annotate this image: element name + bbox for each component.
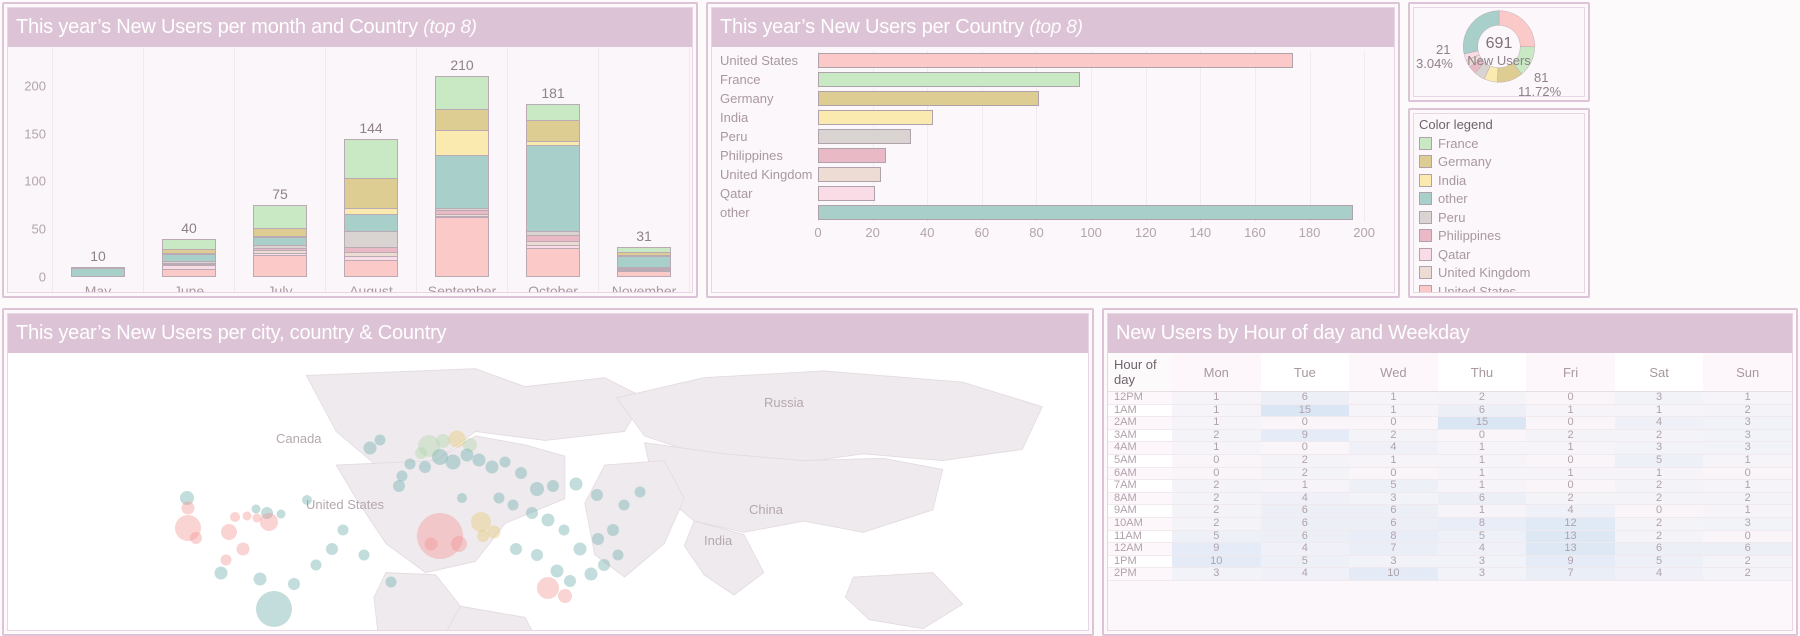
table-cell[interactable]: 15 <box>1261 404 1350 417</box>
hbar[interactable] <box>818 205 1353 220</box>
map-bubble[interactable] <box>591 489 603 501</box>
table-cell[interactable]: 2 <box>1615 492 1704 505</box>
hbar-row[interactable]: other <box>718 203 1386 222</box>
table-cell[interactable]: 3 <box>1703 517 1792 530</box>
map-bubble[interactable] <box>585 568 598 581</box>
hbar-track <box>818 146 1386 165</box>
table-cell[interactable]: 9 <box>1526 555 1615 568</box>
table-cell[interactable]: 13 <box>1526 530 1615 543</box>
table-row[interactable]: 12AM94741366 <box>1108 543 1792 556</box>
table-row[interactable]: 11AM56851320 <box>1108 530 1792 543</box>
legend-label: United States <box>1438 284 1516 293</box>
map-bubble[interactable] <box>472 454 485 467</box>
legend-item[interactable]: Philippines <box>1414 227 1584 246</box>
map-bubble[interactable] <box>337 524 348 535</box>
table-row[interactable]: 6AM0201110 <box>1108 467 1792 480</box>
legend-item[interactable]: other <box>1414 190 1584 209</box>
table-column-header[interactable]: Thu <box>1438 353 1527 392</box>
table-cell[interactable]: 12 <box>1526 517 1615 530</box>
map-bubble[interactable] <box>214 566 227 579</box>
hour-weekday-table[interactable]: Hour of dayMonTueWedThuFriSatSun 12PM161… <box>1108 353 1792 581</box>
hbar-category-label: Peru <box>718 129 818 144</box>
bar-segment[interactable] <box>435 130 489 155</box>
table-cell[interactable]: 3 <box>1438 568 1527 581</box>
table-cell[interactable]: 1 <box>1172 417 1261 430</box>
map-bubble[interactable] <box>550 565 563 578</box>
table-cell[interactable]: 5 <box>1349 480 1438 493</box>
table-cell[interactable]: 3 <box>1438 555 1527 568</box>
bar-segment[interactable] <box>435 217 489 277</box>
x-axis-tick: 60 <box>975 225 989 240</box>
table-cell[interactable]: 2 <box>1615 530 1704 543</box>
hbar-category-label: Qatar <box>718 186 818 201</box>
map-bubble[interactable] <box>574 542 587 555</box>
panel-inner: Color legend FranceGermanyIndiaotherPeru… <box>1413 113 1585 293</box>
table-cell[interactable]: 8 <box>1349 530 1438 543</box>
table-cell[interactable]: 4 <box>1526 505 1615 518</box>
table-cell[interactable]: 0 <box>1526 417 1615 430</box>
table-row[interactable]: 5AM0211051 <box>1108 454 1792 467</box>
bars-panel-title: This year’s New Users per month and Coun… <box>8 8 692 47</box>
table-cell[interactable]: 6 <box>1261 530 1350 543</box>
stacked-bar[interactable] <box>253 205 307 277</box>
table-cell[interactable]: 2 <box>1172 505 1261 518</box>
stacked-bar[interactable] <box>344 139 398 277</box>
table-row-header: 6AM <box>1108 467 1172 480</box>
table-cell[interactable]: 2 <box>1703 404 1792 417</box>
hbar-row[interactable]: Qatar <box>718 184 1386 203</box>
map-bubble[interactable] <box>237 542 250 555</box>
table-cell[interactable]: 0 <box>1526 454 1615 467</box>
table-row[interactable]: 2AM10015043 <box>1108 417 1792 430</box>
table-cell[interactable]: 6 <box>1349 517 1438 530</box>
map-bubble[interactable] <box>374 434 385 445</box>
table-cell[interactable]: 10 <box>1349 568 1438 581</box>
table-cell[interactable]: 8 <box>1438 517 1527 530</box>
map-bubble[interactable] <box>499 457 510 468</box>
table-cell[interactable]: 1 <box>1703 454 1792 467</box>
hbar[interactable] <box>818 148 886 163</box>
map-bubble[interactable] <box>570 478 583 491</box>
table-cell[interactable]: 1 <box>1261 480 1350 493</box>
table-cell[interactable]: 1 <box>1172 392 1261 405</box>
table-cell[interactable]: 0 <box>1261 417 1350 430</box>
table-column-header[interactable]: Sat <box>1615 353 1704 392</box>
panel-new-users-per-country: This year’s New Users per Country (top 8… <box>706 2 1400 298</box>
gridline <box>1091 108 1092 127</box>
table-cell[interactable]: 2 <box>1172 492 1261 505</box>
map-bubble[interactable] <box>515 467 527 479</box>
bar-segment[interactable] <box>344 260 398 277</box>
table-row[interactable]: 12PM1612031 <box>1108 392 1792 405</box>
table-row[interactable]: 2PM34103742 <box>1108 568 1792 581</box>
table-cell[interactable]: 3 <box>1172 568 1261 581</box>
gridline <box>1200 108 1201 127</box>
bar-segment[interactable] <box>617 256 671 267</box>
map-bubble[interactable] <box>531 549 543 561</box>
table-row[interactable]: 8AM2436222 <box>1108 492 1792 505</box>
table-row[interactable]: 1PM10533952 <box>1108 555 1792 568</box>
gridline <box>1364 70 1365 89</box>
table-cell[interactable]: 2 <box>1261 467 1350 480</box>
hbar-row[interactable]: United States <box>718 51 1386 70</box>
table-column-header[interactable]: Fri <box>1526 353 1615 392</box>
map-bubble[interactable] <box>310 559 321 570</box>
hbar[interactable] <box>818 167 881 182</box>
map-bubble[interactable] <box>488 525 501 538</box>
gridline <box>927 146 928 165</box>
table-cell[interactable]: 5 <box>1438 530 1527 543</box>
table-cell[interactable]: 5 <box>1261 555 1350 568</box>
bar-segment[interactable] <box>162 239 216 250</box>
table-cell[interactable]: 6 <box>1349 505 1438 518</box>
gridline <box>1310 108 1311 127</box>
hbar-category-label: France <box>718 72 818 87</box>
bar-segment[interactable] <box>344 214 398 231</box>
table-cell[interactable]: 1 <box>1703 480 1792 493</box>
x-axis-tick: September <box>417 283 507 293</box>
table-cell[interactable]: 2 <box>1526 429 1615 442</box>
map-bubble[interactable] <box>457 493 467 503</box>
hbar-row[interactable]: Peru <box>718 127 1386 146</box>
gridline <box>1091 184 1092 203</box>
map-bubble[interactable] <box>559 524 570 535</box>
table-row-header: 3AM <box>1108 429 1172 442</box>
legend-label: Philippines <box>1438 228 1501 243</box>
hbar-row[interactable]: United Kingdom <box>718 165 1386 184</box>
bar-segment[interactable] <box>253 228 307 236</box>
bar-segment[interactable] <box>617 271 671 277</box>
map-bubble[interactable] <box>404 458 415 469</box>
table-cell[interactable]: 2 <box>1615 517 1704 530</box>
hbar[interactable] <box>818 72 1080 87</box>
table-corner-header: Hour of day <box>1108 353 1172 392</box>
gridline <box>1146 127 1147 146</box>
map-bubble[interactable] <box>510 543 522 555</box>
table-cell[interactable]: 1 <box>1349 454 1438 467</box>
table-cell[interactable]: 1 <box>1526 467 1615 480</box>
table-cell[interactable]: 0 <box>1438 429 1527 442</box>
table-cell[interactable]: 1 <box>1526 442 1615 455</box>
table-cell[interactable]: 3 <box>1615 442 1704 455</box>
stacked-bar[interactable] <box>162 239 216 277</box>
bar-segment[interactable] <box>344 178 398 208</box>
table-cell[interactable]: 4 <box>1615 568 1704 581</box>
table-cell[interactable]: 4 <box>1438 543 1527 556</box>
map-bubble[interactable] <box>526 507 538 519</box>
map-bubble[interactable] <box>326 543 338 555</box>
table-cell[interactable]: 0 <box>1703 530 1792 543</box>
table-cell[interactable]: 3 <box>1703 417 1792 430</box>
map-bubble[interactable] <box>530 482 544 496</box>
stacked-bar[interactable] <box>617 247 671 277</box>
table-cell[interactable]: 6 <box>1438 492 1527 505</box>
table-cell[interactable]: 2 <box>1615 480 1704 493</box>
table-cell[interactable]: 5 <box>1615 454 1704 467</box>
legend-item[interactable]: Peru <box>1414 208 1584 227</box>
table-cell[interactable]: 7 <box>1349 543 1438 556</box>
map-bubble[interactable] <box>260 513 278 531</box>
table-cell[interactable]: 2 <box>1172 480 1261 493</box>
stacked-bar-chart[interactable]: 050100150200 10May40June75July144August2… <box>8 47 692 293</box>
table-row[interactable]: 1AM11516112 <box>1108 404 1792 417</box>
table-row[interactable]: 7AM2151021 <box>1108 480 1792 493</box>
table-cell[interactable]: 6 <box>1261 392 1350 405</box>
table-cell[interactable]: 10 <box>1172 555 1261 568</box>
bar-segment[interactable] <box>162 269 216 277</box>
map-canvas[interactable]: CanadaUnited StatesRussiaChinaIndia <box>8 353 1088 631</box>
table-cell[interactable]: 1 <box>1438 467 1527 480</box>
map-bubble[interactable] <box>445 455 460 470</box>
bar-total-label: 181 <box>541 85 564 101</box>
map-bubble[interactable] <box>256 591 292 627</box>
map-bubble[interactable] <box>451 536 467 552</box>
bar-column[interactable]: 144August <box>326 47 417 293</box>
table-cell[interactable]: 1 <box>1703 392 1792 405</box>
table-column-header[interactable]: Mon <box>1172 353 1261 392</box>
table-cell[interactable]: 4 <box>1261 543 1350 556</box>
table-cell[interactable]: 6 <box>1703 543 1792 556</box>
table-cell[interactable]: 3 <box>1703 429 1792 442</box>
table-cell[interactable]: 15 <box>1438 417 1527 430</box>
horizontal-bar-chart[interactable]: United StatesFranceGermanyIndiaPeruPhili… <box>712 47 1394 244</box>
bar-segment[interactable] <box>344 231 398 247</box>
map-bubble[interactable] <box>547 480 559 492</box>
table-cell[interactable]: 4 <box>1261 568 1350 581</box>
table-row[interactable]: 10AM26681223 <box>1108 517 1792 530</box>
map-bubble[interactable] <box>485 460 498 473</box>
stacked-bar[interactable] <box>435 76 489 277</box>
bar-segment[interactable] <box>71 268 125 277</box>
gridline <box>1364 165 1365 184</box>
bar-column[interactable]: 10May <box>52 47 144 293</box>
table-cell[interactable]: 1 <box>1703 505 1792 518</box>
table-cell[interactable]: 5 <box>1615 555 1704 568</box>
table-cell[interactable]: 1 <box>1438 480 1527 493</box>
table-cell[interactable]: 9 <box>1172 543 1261 556</box>
bar-column[interactable]: 210September <box>417 47 508 293</box>
x-axis-tick: July <box>235 283 325 293</box>
legend-item-list: FranceGermanyIndiaotherPeruPhilippinesQa… <box>1414 134 1584 293</box>
table-cell[interactable]: 0 <box>1172 454 1261 467</box>
table-cell[interactable]: 2 <box>1438 392 1527 405</box>
hbar-row[interactable]: Germany <box>718 89 1386 108</box>
table-cell[interactable]: 4 <box>1261 492 1350 505</box>
map-bubble[interactable] <box>359 550 370 561</box>
x-axis: 020406080100120140160180200 <box>818 222 1386 244</box>
map-country-label: China <box>749 502 783 517</box>
legend-item[interactable]: United States <box>1414 282 1584 293</box>
table-row[interactable]: 9AM2661401 <box>1108 505 1792 518</box>
map-bubble[interactable] <box>494 493 505 504</box>
table-cell[interactable]: 9 <box>1261 429 1350 442</box>
hbar-row[interactable]: Philippines <box>718 146 1386 165</box>
map-bubble[interactable] <box>419 461 431 473</box>
legend-item[interactable]: Qatar <box>1414 245 1584 264</box>
table-cell[interactable]: 3 <box>1703 442 1792 455</box>
gridline <box>1310 89 1311 108</box>
bar-segment[interactable] <box>344 139 398 178</box>
table-cell[interactable]: 1 <box>1438 442 1527 455</box>
table-cell[interactable]: 6 <box>1615 543 1704 556</box>
table-cell[interactable]: 1 <box>1349 404 1438 417</box>
table-cell[interactable]: 1 <box>1438 505 1527 518</box>
table-cell[interactable]: 4 <box>1615 417 1704 430</box>
gridline <box>1036 184 1037 203</box>
map-bubble[interactable] <box>542 514 555 527</box>
hbar-category-label: United States <box>718 53 818 68</box>
map-bubble[interactable] <box>182 501 195 514</box>
table-cell[interactable]: 1 <box>1172 442 1261 455</box>
map-bubble[interactable] <box>288 578 300 590</box>
map-bubble[interactable] <box>221 524 237 540</box>
map-bubble[interactable] <box>363 441 376 454</box>
table-cell[interactable]: 3 <box>1349 492 1438 505</box>
map-bubble[interactable] <box>613 550 624 561</box>
map-bubble[interactable] <box>393 480 405 492</box>
legend-item[interactable]: France <box>1414 134 1584 153</box>
bar-column[interactable]: 181October <box>508 47 599 293</box>
hbar[interactable] <box>818 110 933 125</box>
bar-segment[interactable] <box>526 120 580 141</box>
map-bubble[interactable] <box>607 524 619 536</box>
bar-segment[interactable] <box>253 237 307 245</box>
map-bubble[interactable] <box>598 559 610 571</box>
map-bubble[interactable] <box>618 499 629 510</box>
map-bubble[interactable] <box>190 532 202 544</box>
table-cell[interactable]: 2 <box>1526 492 1615 505</box>
bar-segment[interactable] <box>253 205 307 228</box>
bar-segment[interactable] <box>526 145 580 231</box>
map-bubble[interactable] <box>537 577 559 599</box>
legend-label: Peru <box>1438 210 1465 225</box>
table-column-header[interactable]: Tue <box>1261 353 1350 392</box>
table-cell[interactable]: 3 <box>1615 392 1704 405</box>
table-row-header: 7AM <box>1108 480 1172 493</box>
table-cell[interactable]: 0 <box>1703 467 1792 480</box>
stacked-bar[interactable] <box>526 104 580 277</box>
legend-item[interactable]: Germany <box>1414 153 1584 172</box>
gridline <box>982 184 983 203</box>
map-bubble[interactable] <box>230 512 240 522</box>
gridline <box>1364 184 1365 203</box>
table-cell[interactable]: 1 <box>1526 404 1615 417</box>
table-cell[interactable]: 0 <box>1172 467 1261 480</box>
map-bubble[interactable] <box>386 577 397 588</box>
table-cell[interactable]: 2 <box>1172 517 1261 530</box>
map-bubble[interactable] <box>277 510 286 519</box>
table-header-row: Hour of dayMonTueWedThuFriSatSun <box>1108 353 1792 392</box>
bar-column[interactable]: 40June <box>144 47 235 293</box>
table-cell[interactable]: 1 <box>1349 392 1438 405</box>
bar-segment[interactable] <box>253 255 307 277</box>
legend-item[interactable]: United Kingdom <box>1414 264 1584 283</box>
hbar-row[interactable]: France <box>718 70 1386 89</box>
donut-chart[interactable]: 691 New Users 213.04%8111.72% <box>1414 8 1584 96</box>
legend-swatch <box>1419 137 1432 150</box>
table-cell[interactable]: 1 <box>1615 467 1704 480</box>
table-cell[interactable]: 2 <box>1703 492 1792 505</box>
map-bubble[interactable] <box>242 511 251 520</box>
map-bubble[interactable] <box>302 495 312 505</box>
hbar[interactable] <box>818 91 1039 106</box>
table-cell[interactable]: 0 <box>1349 417 1438 430</box>
map-bubble[interactable] <box>564 575 576 587</box>
gridline <box>1200 165 1201 184</box>
x-axis-tick: November <box>599 283 689 293</box>
table-cell[interactable]: 2 <box>1261 454 1350 467</box>
table-row[interactable]: 4AM1041133 <box>1108 442 1792 455</box>
table-cell[interactable]: 2 <box>1703 555 1792 568</box>
bar-segment[interactable] <box>526 248 580 277</box>
table-cell[interactable]: 0 <box>1349 467 1438 480</box>
table-cell[interactable]: 0 <box>1526 480 1615 493</box>
stacked-bar[interactable] <box>71 267 125 277</box>
table-cell[interactable]: 6 <box>1438 404 1527 417</box>
hbar[interactable] <box>818 186 875 201</box>
table-body: 12PM16120311AM115161122AM100150433AM2920… <box>1108 392 1792 581</box>
legend-item[interactable]: India <box>1414 171 1584 190</box>
table-cell[interactable]: 0 <box>1526 392 1615 405</box>
table-cell[interactable]: 0 <box>1261 442 1350 455</box>
table-cell[interactable]: 2 <box>1615 429 1704 442</box>
table-cell[interactable]: 3 <box>1349 555 1438 568</box>
table-cell[interactable]: 13 <box>1526 543 1615 556</box>
table-cell[interactable]: 1 <box>1615 404 1704 417</box>
map-country-label: India <box>704 533 732 548</box>
hbar[interactable] <box>818 129 911 144</box>
gridline <box>1200 89 1201 108</box>
bar-segment[interactable] <box>435 76 489 109</box>
map-bubble[interactable] <box>425 538 438 551</box>
table-column-header[interactable]: Sun <box>1703 353 1792 392</box>
table-cell[interactable]: 6 <box>1261 517 1350 530</box>
table-cell[interactable]: 7 <box>1526 568 1615 581</box>
table-row[interactable]: 3AM2920223 <box>1108 429 1792 442</box>
table-cell[interactable]: 2 <box>1349 429 1438 442</box>
table-panel-title: New Users by Hour of day and Weekday <box>1108 314 1792 353</box>
bar-segment[interactable] <box>435 109 489 130</box>
map-bubble[interactable] <box>253 573 266 586</box>
bar-column[interactable]: 75July <box>235 47 326 293</box>
table-cell[interactable]: 1 <box>1438 454 1527 467</box>
map-bubble[interactable] <box>592 533 604 545</box>
table-cell[interactable]: 0 <box>1615 505 1704 518</box>
x-axis-tick: May <box>53 283 143 293</box>
table-cell[interactable]: 6 <box>1261 505 1350 518</box>
table-cell[interactable]: 2 <box>1703 568 1792 581</box>
bar-column[interactable]: 31November <box>599 47 690 293</box>
map-bubble[interactable] <box>508 499 519 510</box>
table-cell[interactable]: 2 <box>1172 429 1261 442</box>
donut-slice[interactable] <box>1499 11 1535 47</box>
table-cell[interactable]: 1 <box>1172 404 1261 417</box>
hbar[interactable] <box>818 53 1293 68</box>
x-axis-tick: 100 <box>1080 225 1102 240</box>
map-bubble[interactable] <box>558 589 572 603</box>
donut-slice[interactable] <box>1463 11 1499 54</box>
map-bubble[interactable] <box>221 554 232 565</box>
map-bubble[interactable] <box>477 530 489 542</box>
map-bubble[interactable] <box>634 487 645 498</box>
bar-segment[interactable] <box>435 155 489 209</box>
table-cell[interactable]: 4 <box>1349 442 1438 455</box>
table-cell[interactable]: 5 <box>1172 530 1261 543</box>
bar-segment[interactable] <box>162 254 216 261</box>
hbar-row[interactable]: India <box>718 108 1386 127</box>
bar-segment[interactable] <box>526 104 580 120</box>
table-column-header[interactable]: Wed <box>1349 353 1438 392</box>
